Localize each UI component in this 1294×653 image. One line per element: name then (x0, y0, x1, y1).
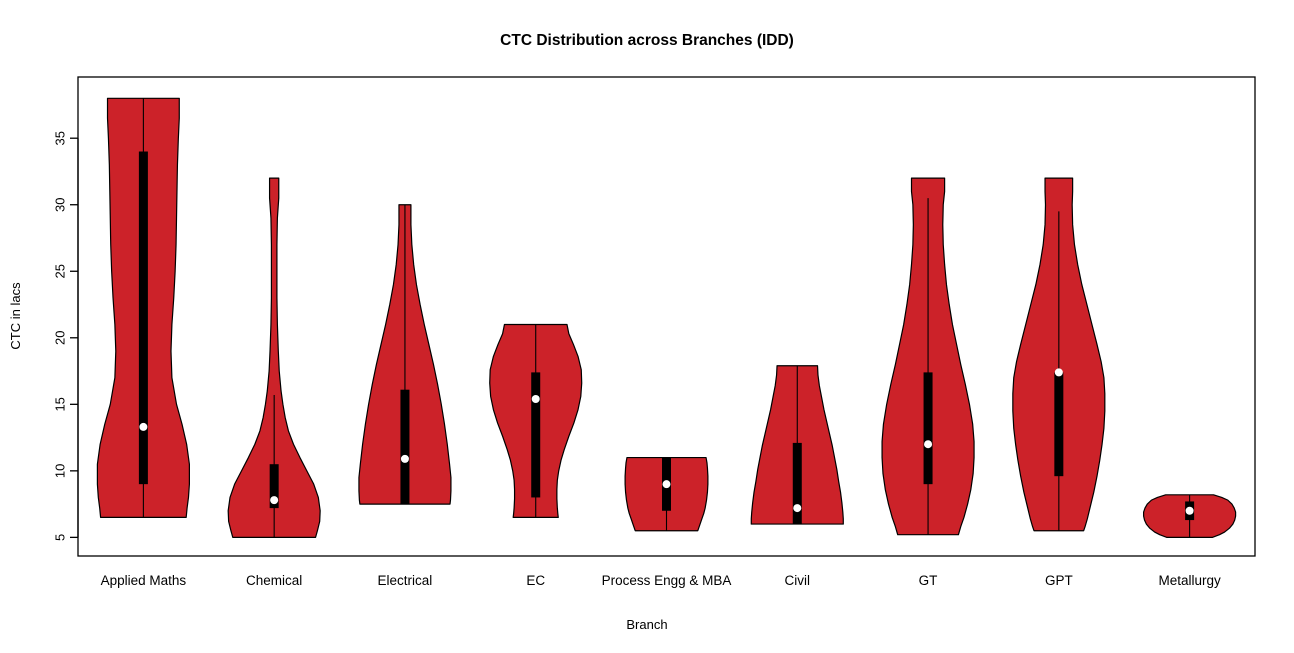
violin-iqr-box (1054, 372, 1063, 476)
y-axis-tick-label: 25 (53, 264, 68, 278)
x-axis-category-label: EC (526, 573, 545, 588)
violin-iqr-box (400, 390, 409, 504)
violin-group (625, 458, 708, 531)
y-axis-title: CTC in lacs (8, 282, 23, 350)
violin-median-marker (139, 423, 147, 431)
x-axis-category-label: GPT (1045, 573, 1073, 588)
violin-median-marker (924, 440, 932, 448)
violin-median-marker (1055, 368, 1063, 376)
violin-group (1144, 495, 1236, 538)
x-axis: Applied MathsChemicalElectricalECProcess… (101, 573, 1221, 588)
violin-median-marker (1186, 507, 1194, 515)
chart-title: CTC Distribution across Branches (IDD) (500, 32, 794, 49)
violin-plot-figure: CTC Distribution across Branches (IDD) 5… (0, 0, 1294, 653)
violin-median-marker (663, 480, 671, 488)
y-axis-tick-label: 10 (53, 464, 68, 478)
violin-iqr-box (139, 152, 148, 485)
x-axis-category-label: Metallurgy (1158, 573, 1221, 588)
x-axis-category-label: Process Engg & MBA (602, 573, 732, 588)
x-axis-category-label: Civil (785, 573, 811, 588)
x-axis-category-label: Electrical (378, 573, 433, 588)
x-axis-category-label: GT (919, 573, 938, 588)
x-axis-category-label: Applied Maths (101, 573, 187, 588)
figure-background (0, 0, 1294, 653)
y-axis-tick-label: 20 (53, 331, 68, 345)
violin-iqr-box (924, 372, 933, 484)
y-axis-tick-label: 35 (53, 131, 68, 145)
x-axis-category-label: Chemical (246, 573, 302, 588)
violin-median-marker (793, 504, 801, 512)
y-axis-tick-label: 15 (53, 397, 68, 411)
violin-median-marker (401, 455, 409, 463)
violin-median-marker (532, 395, 540, 403)
y-axis-tick-label: 30 (53, 197, 68, 211)
chart-canvas: CTC Distribution across Branches (IDD) 5… (0, 0, 1294, 653)
x-axis-title: Branch (626, 617, 667, 632)
y-axis-tick-label: 5 (53, 534, 68, 541)
violin-iqr-box (531, 372, 540, 497)
violin-median-marker (270, 496, 278, 504)
